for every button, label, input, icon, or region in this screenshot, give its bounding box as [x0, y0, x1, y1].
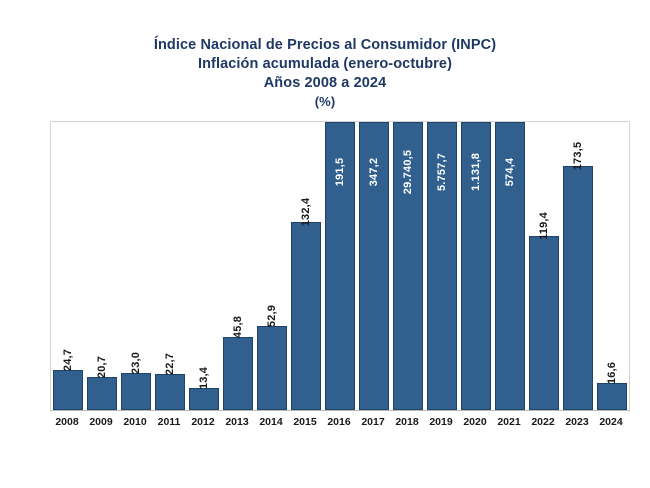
bar-value-label-2019: 5.757,7	[436, 153, 448, 191]
chart-title-line-2: Inflación acumulada (enero-octubre)	[0, 55, 650, 74]
bar-slot: 119,4	[529, 122, 559, 410]
x-tick-2011: 2011	[152, 416, 186, 428]
bar-series: 24,720,723,022,713,445,852,9132,4191,534…	[51, 122, 629, 410]
bar-value-label-2009: 20,7	[96, 356, 108, 378]
x-tick-2020: 2020	[458, 416, 492, 428]
bar-value-label-2012: 13,4	[198, 367, 210, 389]
x-axis-line	[50, 410, 630, 411]
bar-2014[interactable]	[257, 326, 287, 410]
x-tick-2012: 2012	[186, 416, 220, 428]
bar-2023[interactable]	[563, 166, 593, 410]
bar-slot: 45,8	[223, 122, 253, 410]
bar-slot: 22,7	[155, 122, 185, 410]
x-tick-2015: 2015	[288, 416, 322, 428]
bar-2009[interactable]	[87, 377, 117, 410]
bar-slot: 191,5	[325, 122, 355, 410]
x-tick-2017: 2017	[356, 416, 390, 428]
bar-slot: 52,9	[257, 122, 287, 410]
bar-2013[interactable]	[223, 337, 253, 410]
bar-slot: 574,4	[495, 122, 525, 410]
bar-2008[interactable]	[53, 370, 83, 410]
bar-2015[interactable]	[291, 222, 321, 410]
bar-slot: 20,7	[87, 122, 117, 410]
x-tick-2018: 2018	[390, 416, 424, 428]
x-tick-2013: 2013	[220, 416, 254, 428]
bar-value-label-2013: 45,8	[232, 316, 244, 338]
bar-slot: 173,5	[563, 122, 593, 410]
bar-slot: 132,4	[291, 122, 321, 410]
bar-value-label-2010: 23,0	[130, 352, 142, 374]
x-axis-labels: 2008200920102011201220132014201520162017…	[50, 416, 630, 436]
bar-value-label-2017: 347,2	[368, 158, 380, 187]
bar-2011[interactable]	[155, 374, 185, 410]
bar-value-label-2011: 22,7	[164, 353, 176, 375]
bar-2012[interactable]	[189, 388, 219, 410]
bar-value-label-2008: 24,7	[62, 349, 74, 371]
bar-slot: 347,2	[359, 122, 389, 410]
x-tick-2024: 2024	[594, 416, 628, 428]
bar-slot: 23,0	[121, 122, 151, 410]
bar-slot: 16,6	[597, 122, 627, 410]
bar-value-label-2016: 191,5	[334, 158, 346, 187]
bar-2022[interactable]	[529, 236, 559, 410]
chart-title-line-3: Años 2008 a 2024	[0, 74, 650, 93]
bar-value-label-2014: 52,9	[266, 305, 278, 327]
x-tick-2008: 2008	[50, 416, 84, 428]
bar-slot: 1.131,8	[461, 122, 491, 410]
bar-slot: 29.740,5	[393, 122, 423, 410]
plot-area: 24,720,723,022,713,445,852,9132,4191,534…	[50, 121, 630, 411]
x-tick-2021: 2021	[492, 416, 526, 428]
bar-value-label-2024: 16,6	[606, 362, 618, 384]
bar-slot: 24,7	[53, 122, 83, 410]
bar-value-label-2021: 574,4	[504, 158, 516, 187]
chart-title-line-1: Índice Nacional de Precios al Consumidor…	[0, 36, 650, 55]
bar-value-label-2018: 29.740,5	[402, 150, 414, 194]
bar-slot: 5.757,7	[427, 122, 457, 410]
x-tick-2010: 2010	[118, 416, 152, 428]
x-tick-2014: 2014	[254, 416, 288, 428]
chart-units-label: (%)	[0, 93, 650, 111]
bar-2010[interactable]	[121, 373, 151, 410]
x-tick-2016: 2016	[322, 416, 356, 428]
x-tick-2019: 2019	[424, 416, 458, 428]
x-tick-2022: 2022	[526, 416, 560, 428]
bar-value-label-2022: 119,4	[538, 212, 550, 240]
chart-container: Índice Nacional de Precios al Consumidor…	[0, 0, 650, 488]
bar-value-label-2020: 1.131,8	[470, 153, 482, 191]
chart-title-block: Índice Nacional de Precios al Consumidor…	[0, 36, 650, 111]
bar-2024[interactable]	[597, 383, 627, 410]
bar-value-label-2023: 173,5	[572, 142, 584, 171]
bar-slot: 13,4	[189, 122, 219, 410]
x-tick-2023: 2023	[560, 416, 594, 428]
x-tick-2009: 2009	[84, 416, 118, 428]
bar-value-label-2015: 132,4	[300, 198, 312, 227]
